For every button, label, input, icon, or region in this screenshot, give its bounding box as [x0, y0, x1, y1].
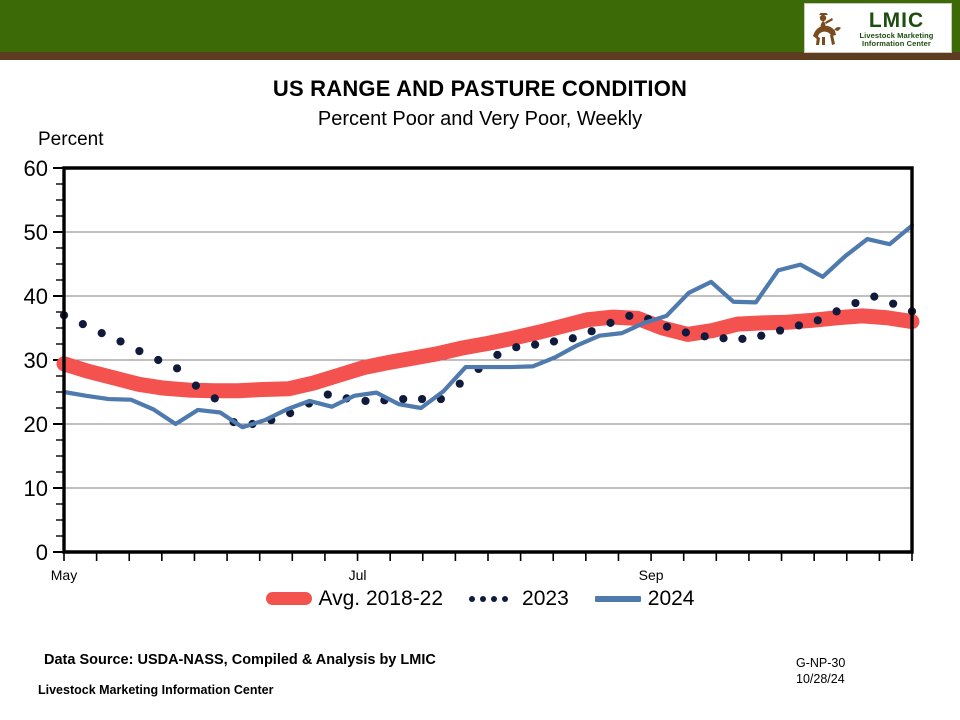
svg-text:50: 50 — [24, 220, 48, 245]
svg-text:30: 30 — [24, 348, 48, 373]
legend-swatch-avg-icon — [266, 592, 312, 605]
chart-canvas: 0102030405060 MayJulSep — [0, 0, 960, 720]
chart-legend: Avg. 2018-22 2023 2024 — [0, 588, 960, 609]
legend-label-2023: 2023 — [522, 588, 569, 609]
legend-swatch-2023-icon — [469, 593, 515, 605]
legend-item-2023[interactable]: 2023 — [469, 588, 569, 609]
y-axis-tick-labels: 0102030405060 — [24, 156, 48, 565]
svg-text:0: 0 — [36, 540, 48, 565]
x-axis-tick-labels: MayJulSep — [51, 567, 664, 583]
footer-code-id: G-NP-30 — [796, 656, 845, 672]
svg-text:Sep: Sep — [639, 567, 664, 583]
svg-text:40: 40 — [24, 284, 48, 309]
svg-text:May: May — [51, 567, 77, 583]
footer-organization: Livestock Marketing Information Center — [38, 683, 273, 697]
legend-label-avg: Avg. 2018-22 — [319, 588, 444, 609]
svg-text:60: 60 — [24, 156, 48, 181]
footer-chart-code: G-NP-30 10/28/24 — [796, 656, 845, 687]
footer-data-source: Data Source: USDA-NASS, Compiled & Analy… — [44, 652, 436, 668]
svg-text:20: 20 — [24, 412, 48, 437]
svg-text:10: 10 — [24, 476, 48, 501]
svg-text:Jul: Jul — [349, 567, 367, 583]
legend-item-avg[interactable]: Avg. 2018-22 — [266, 588, 444, 609]
footer-code-date: 10/28/24 — [796, 672, 845, 688]
legend-item-2024[interactable]: 2024 — [595, 588, 695, 609]
data-series-layer — [60, 226, 916, 429]
legend-swatch-2024-icon — [595, 596, 641, 602]
legend-label-2024: 2024 — [648, 588, 695, 609]
chart-plot-area: 0102030405060 MayJulSep — [0, 0, 960, 720]
